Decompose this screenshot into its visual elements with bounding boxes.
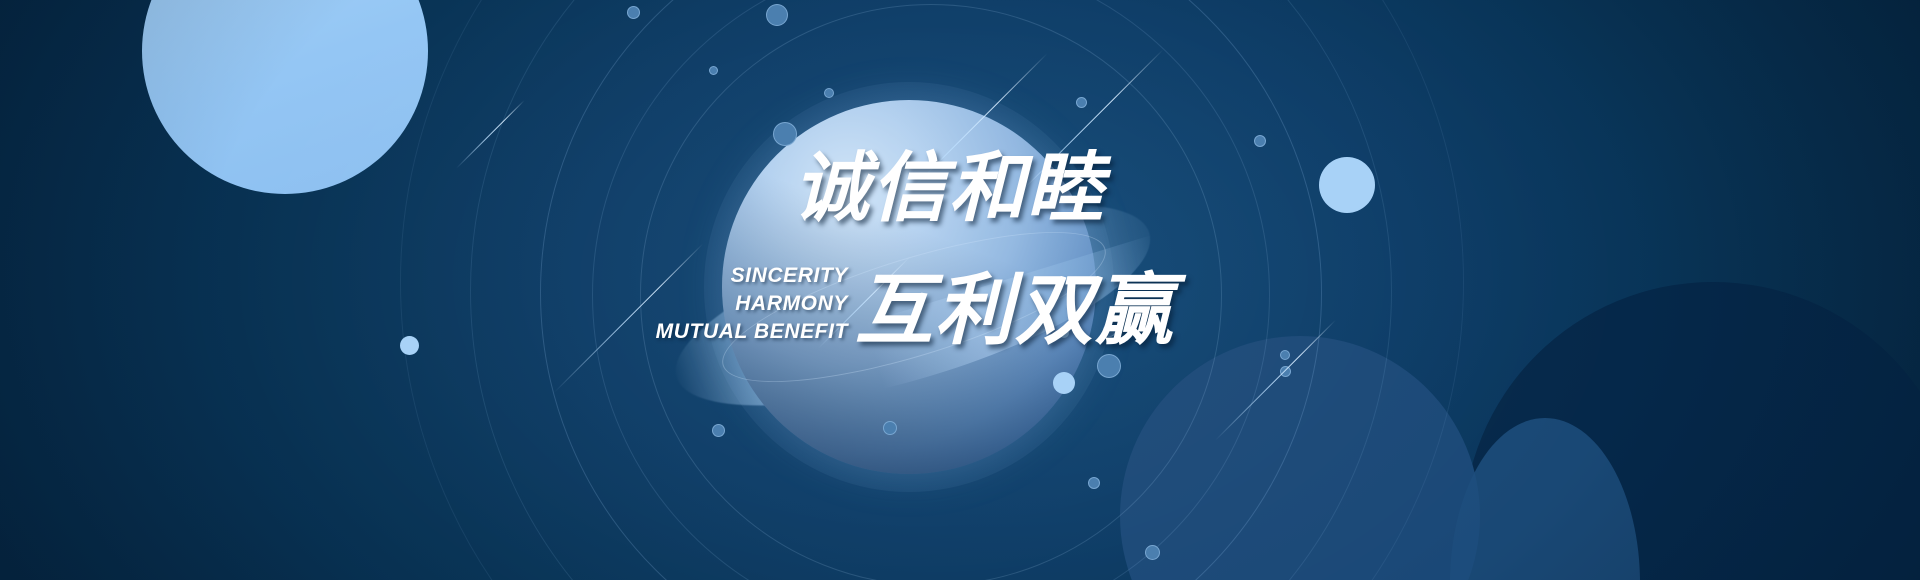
orbit-node-8 (1097, 354, 1121, 378)
glow-dot-large-right (1319, 157, 1375, 213)
orbit-node-15 (627, 6, 640, 19)
glow-dot-tiny (1059, 328, 1069, 338)
orbit-node-4 (773, 122, 797, 146)
orbit-node-7 (1103, 324, 1116, 337)
glow-dot-small-left (400, 336, 419, 355)
orbit-node-2 (709, 66, 718, 75)
orbit-node-9 (712, 424, 725, 437)
glow-dot-planet-ring (1053, 372, 1075, 394)
orbit-node-6 (1254, 135, 1266, 147)
orbit-node-1 (766, 4, 788, 26)
orbit-node-11 (1280, 350, 1290, 360)
orbit-node-3 (824, 88, 834, 98)
orbit-node-10 (883, 421, 897, 435)
corporate-banner: 诚信和睦 互利双赢 SINCERITY HARMONY MUTUAL BENEF… (0, 0, 1920, 580)
background-vignette (0, 0, 1920, 580)
orbit-node-5 (1076, 97, 1087, 108)
orbit-node-13 (1088, 477, 1100, 489)
orbit-node-14 (1145, 545, 1160, 560)
